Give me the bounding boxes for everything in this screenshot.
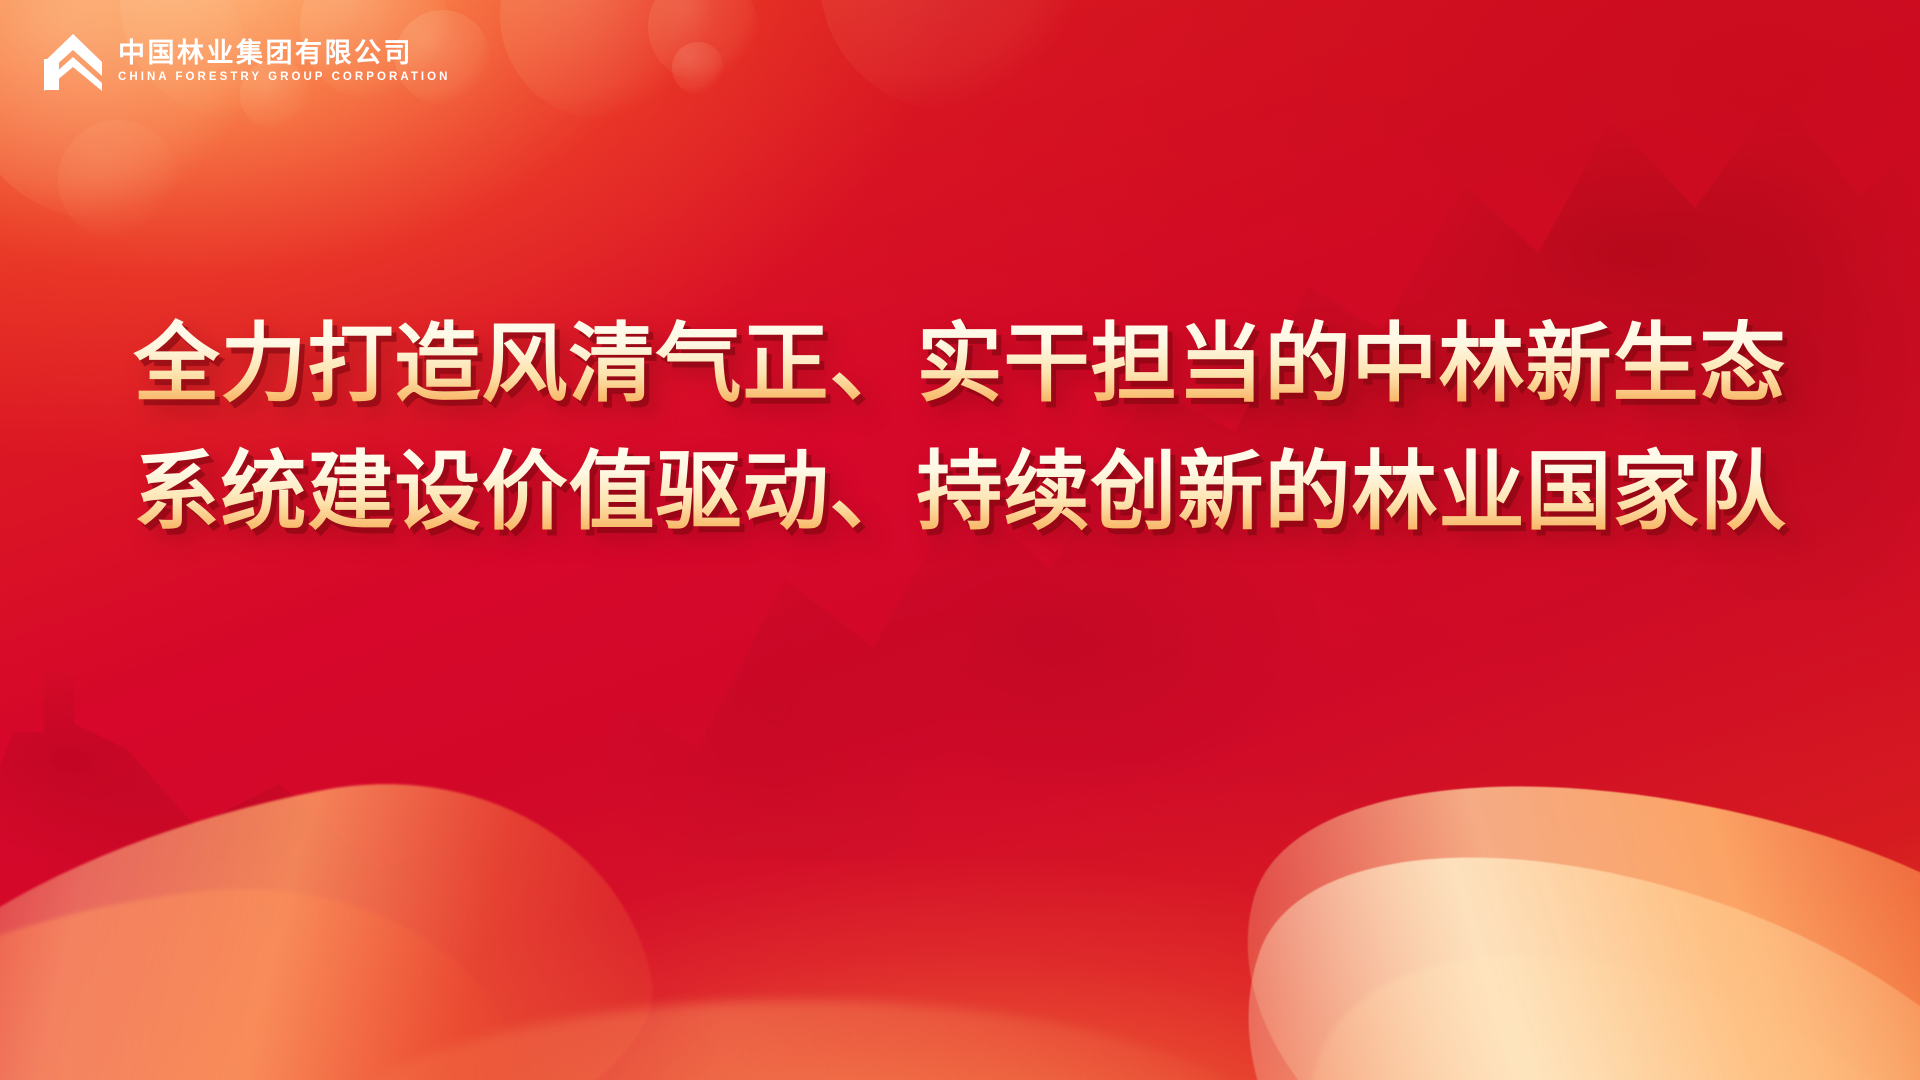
gold-silk-ribbon-icon bbox=[300, 1000, 1300, 1080]
headline-block: 全力打造风清气正、实干担当的中林新生态 系统建设价值驱动、持续创新的林业国家队 bbox=[0, 300, 1920, 556]
gold-silk-ribbon-icon bbox=[1217, 856, 1920, 1080]
gold-silk-ribbon-icon bbox=[1165, 761, 1920, 1080]
company-logo[interactable]: 中国林业集团有限公司 CHINA FORESTRY GROUP CORPORAT… bbox=[42, 31, 451, 93]
great-wall-mountain-watermark-icon bbox=[0, 560, 720, 990]
logo-name-cn: 中国林业集团有限公司 bbox=[118, 40, 451, 67]
gold-silk-ribbon-icon bbox=[1184, 689, 1920, 1080]
bokeh-circle-icon bbox=[820, 0, 1080, 110]
bokeh-circle-icon bbox=[648, 0, 758, 82]
bottom-glow-icon bbox=[210, 860, 1710, 1080]
gold-silk-ribbon-icon bbox=[0, 735, 681, 1080]
forestry-tree-chevron-icon bbox=[42, 31, 104, 93]
banner-poster: 中国林业集团有限公司 CHINA FORESTRY GROUP CORPORAT… bbox=[0, 0, 1920, 1080]
bokeh-circle-icon bbox=[500, 0, 710, 120]
radial-light-rays-icon bbox=[0, 520, 1920, 1080]
bokeh-circle-icon bbox=[672, 42, 724, 94]
headline-line-1: 全力打造风清气正、实干担当的中林新生态 bbox=[0, 300, 1920, 428]
headline-line-2: 系统建设价值驱动、持续创新的林业国家队 bbox=[0, 428, 1920, 556]
bokeh-circle-icon bbox=[58, 120, 178, 240]
gold-silk-ribbon-icon bbox=[0, 855, 540, 1080]
logo-text-block: 中国林业集团有限公司 CHINA FORESTRY GROUP CORPORAT… bbox=[118, 40, 451, 84]
logo-name-en: CHINA FORESTRY GROUP CORPORATION bbox=[118, 72, 451, 84]
